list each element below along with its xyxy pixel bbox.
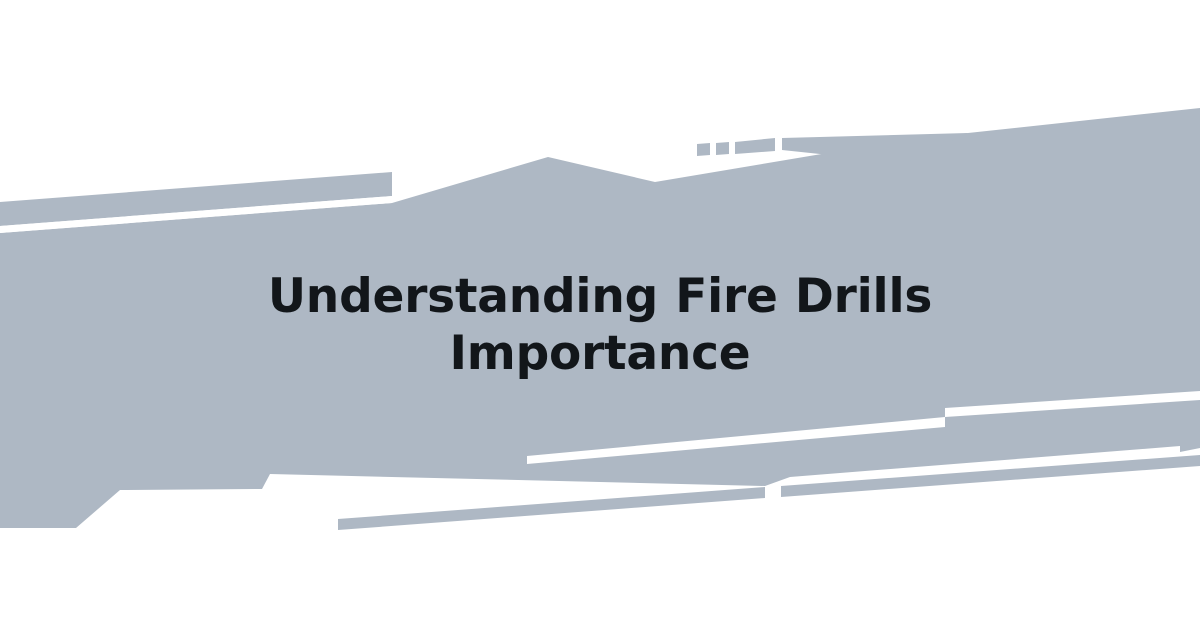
top-center-dash-square-1 xyxy=(697,143,710,156)
top-center-dash-square-2 xyxy=(716,142,729,155)
banner-decorative-artwork xyxy=(0,0,1200,630)
article-header-banner: Understanding Fire Drills Importance xyxy=(0,0,1200,630)
